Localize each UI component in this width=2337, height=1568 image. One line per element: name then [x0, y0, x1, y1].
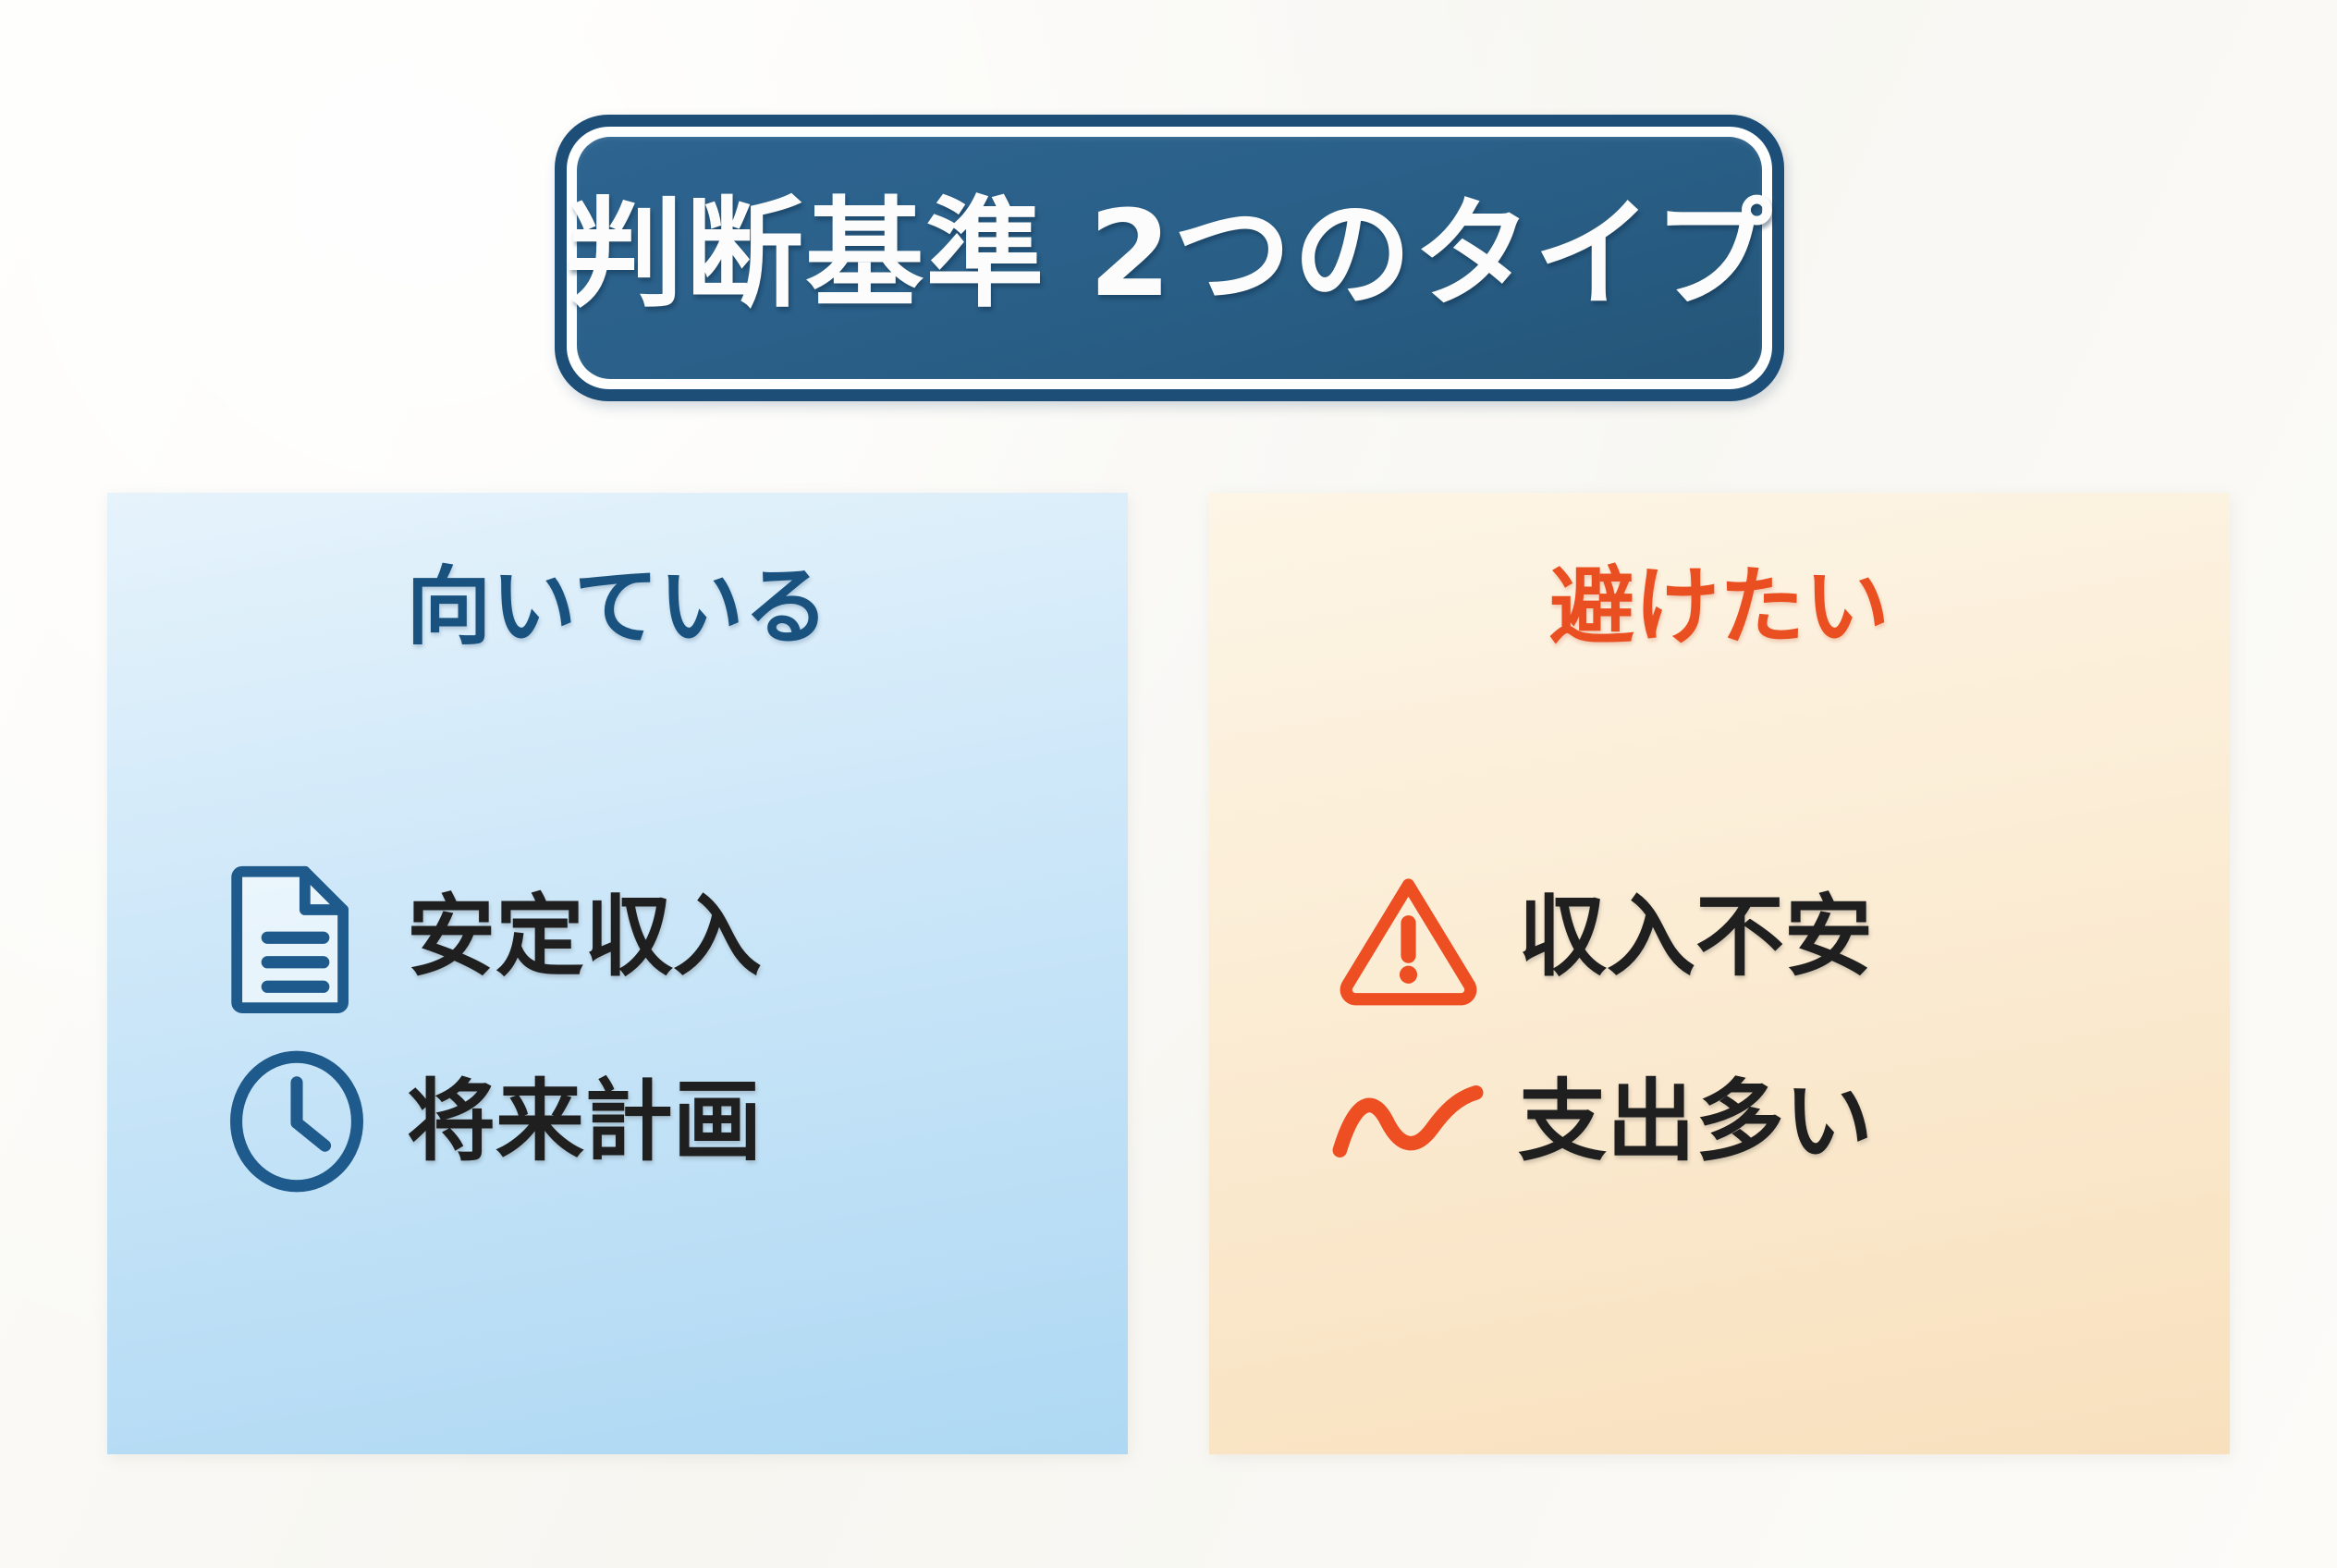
- card-suited: 向いている 安定収入: [107, 493, 1128, 1454]
- list-item: 収入不安: [1209, 844, 2230, 1029]
- list-item-label: 安定収入: [407, 892, 762, 981]
- warning-triangle-icon: [1329, 858, 1487, 1015]
- title-banner-fill: 判断基準 2つのタイプ: [577, 137, 1762, 379]
- document-icon: [218, 858, 375, 1015]
- card-suited-heading: 向いている: [107, 565, 1128, 650]
- list-item-label: 収入不安: [1518, 892, 1873, 981]
- card-avoid-heading: 避けたい: [1209, 565, 2230, 650]
- title-banner-inner-ring: 判断基準 2つのタイプ: [567, 127, 1772, 389]
- title-banner: 判断基準 2つのタイプ: [555, 115, 1784, 401]
- clock-icon: [218, 1043, 375, 1200]
- list-item-label: 支出多い: [1518, 1077, 1873, 1166]
- list-item: 将来計画: [107, 1029, 1128, 1214]
- list-item: 支出多い: [1209, 1029, 2230, 1214]
- wavy-line-icon: [1329, 1043, 1487, 1200]
- page-title: 判断基準 2つのタイプ: [565, 196, 1774, 320]
- list-item-label: 将来計画: [407, 1077, 762, 1166]
- list-item: 安定収入: [107, 844, 1128, 1029]
- slide-canvas: 判断基準 2つのタイプ 向いている 安定収入: [0, 0, 2337, 1568]
- card-suited-item-list: 安定収入 将来計画: [107, 844, 1128, 1214]
- card-avoid: 避けたい 収入不安 支出多い: [1209, 493, 2230, 1454]
- card-avoid-item-list: 収入不安 支出多い: [1209, 844, 2230, 1214]
